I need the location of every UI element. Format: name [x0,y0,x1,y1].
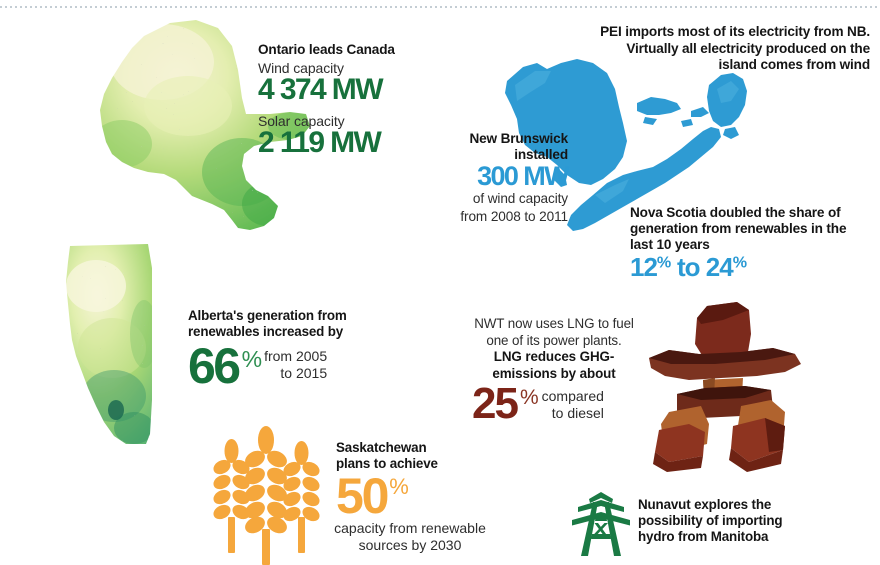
ns-headline: Nova Scotia doubled the share of generat… [630,205,870,253]
sk-value-row: 50 % [336,474,491,519]
nwt-text: NWT now uses LNG to fuel one of its powe… [472,316,636,382]
inukshuk-icon [645,300,805,475]
top-dotted-rule [0,6,880,8]
percent-icon: % [657,254,671,272]
nwt-value-row: 25 % compared to diesel [472,384,636,424]
nwt-text-part1: NWT now uses LNG to fuel one of its powe… [474,316,634,348]
percent-icon: % [733,254,747,272]
nwt-tail-line1: compared [542,388,604,404]
nb-value: 300 MW [400,164,568,189]
sk-tail-line2: sources by 2030 [359,537,462,553]
new-brunswick-stat-block: New Brunswick installed 300 MW of wind c… [400,131,568,225]
alberta-stat-block: Alberta's generation from renewables inc… [188,308,358,388]
nwt-stat-block: NWT now uses LNG to fuel one of its powe… [472,316,636,424]
sk-headline-line1: Saskatchewan [336,440,491,456]
ns-value-row: 12% to 24% [630,255,870,279]
saskatchewan-stat-block: Saskatchewan plans to achieve 50 % [336,440,491,519]
ontario-headline: Ontario leads Canada [258,42,438,58]
ns-to-value: 24 [706,252,733,282]
nb-detail-line1: of wind capacity [400,191,568,207]
ontario-wind-value: 4 374 MW [258,76,438,104]
nunavut-stat-block: Nunavut explores the possibility of impo… [638,497,808,546]
nb-detail-line2: from 2008 to 2011 [400,209,568,225]
saskatchewan-tail: capacity from renewable sources by 2030 [300,520,520,554]
alberta-tail: from 2005 to 2015 [264,348,327,381]
nwt-value: 25 [472,384,517,424]
ns-connector: to [677,252,700,282]
percent-icon: % [389,476,409,498]
sk-value: 50 [336,474,387,519]
pei-shape [637,97,681,115]
alberta-map [52,238,177,468]
nwt-tail-line2: to diesel [552,405,604,421]
alberta-value: 66 [188,344,239,388]
alberta-tail-line2: to 2015 [280,365,327,381]
nunavut-headline: Nunavut explores the possibility of impo… [638,497,808,546]
sk-tail-line1: capacity from renewable [334,520,486,536]
percent-icon: % [520,387,539,408]
alberta-headline: Alberta's generation from renewables inc… [188,308,358,340]
nova-scotia-stat-block: Nova Scotia doubled the share of generat… [630,205,870,279]
nb-headline-line1: New Brunswick [400,131,568,147]
percent-icon: % [242,348,262,371]
pei-headline: PEI imports most of its electricity from… [600,24,870,74]
infographic-canvas: Ontario leads Canada Wind capacity 4 374… [0,0,880,565]
pei-stat-block: PEI imports most of its electricity from… [600,24,870,74]
nwt-tail: compared to diesel [542,388,604,421]
alberta-tail-line1: from 2005 [264,348,327,364]
alberta-value-row: 66 % from 2005 to 2015 [188,344,358,388]
transmission-tower-icon [568,490,634,558]
ns-from-value: 12 [630,252,657,282]
nwt-text-bold: LNG reduces GHG-emissions by about [492,349,615,381]
